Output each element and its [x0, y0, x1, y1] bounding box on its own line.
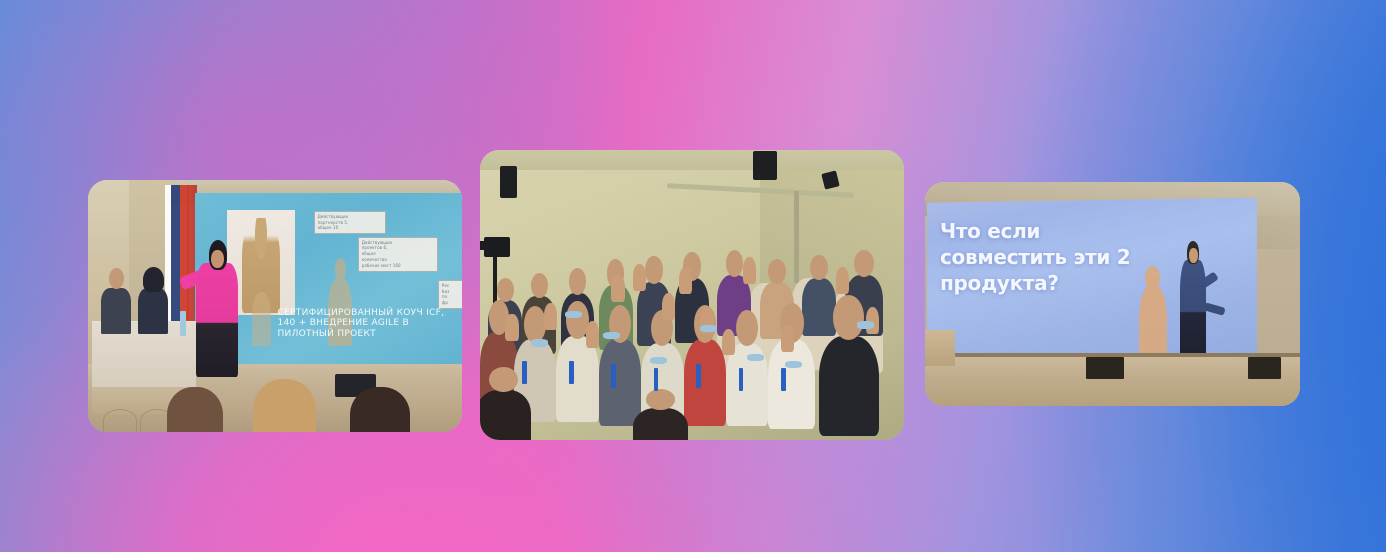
attendee — [819, 336, 878, 437]
lanyard — [522, 361, 527, 384]
raised-hand — [544, 303, 557, 330]
slide-headline: СЕРТИФИЦИРОВАННЫЙ КОУЧ ICF, 140 + ВНЕДРЕ… — [277, 308, 456, 341]
ceiling — [480, 150, 904, 170]
attendee-foreground — [480, 390, 531, 440]
wall-speaker — [500, 166, 518, 198]
attendee — [599, 339, 641, 425]
slide-callout-projects: Действующих проектов 6, общее количество… — [358, 237, 438, 272]
stage-monitor — [1248, 357, 1282, 379]
lanyard — [696, 364, 701, 387]
wall-speaker — [753, 151, 777, 180]
water-bottle — [180, 311, 186, 336]
face-mask — [650, 357, 667, 364]
face-mask — [700, 325, 717, 332]
raised-hand — [633, 264, 646, 291]
video-camera — [484, 237, 509, 257]
raised-hand — [611, 275, 624, 302]
stage-monitor — [1086, 357, 1124, 379]
raised-hand — [722, 329, 735, 356]
face-mask — [747, 354, 764, 361]
attendee — [802, 278, 836, 336]
attendee — [684, 339, 726, 425]
face-mask — [531, 339, 548, 346]
audience-crowd — [480, 260, 904, 440]
raised-hand — [679, 267, 692, 294]
lanyard — [611, 364, 616, 387]
attendee — [768, 339, 815, 429]
photo-card-stage-speaker[interactable]: Что если совместить эти 2 продукта? Man … — [925, 182, 1300, 406]
panelist-man — [101, 288, 131, 333]
photo-image-stage-speaker: Что если совместить эти 2 продукта? — [925, 182, 1300, 406]
raised-hand — [505, 314, 518, 341]
face-mask — [857, 321, 874, 328]
photo-card-audience-raised-hands[interactable]: Auditorium full of seated attendees wear… — [480, 150, 904, 440]
raised-hand — [743, 257, 756, 284]
presenter-pink-blazer — [196, 263, 237, 376]
lanyard — [654, 368, 659, 391]
audience-head — [253, 379, 317, 432]
slide-silhouette-small — [252, 292, 271, 346]
face-mask — [603, 332, 620, 339]
lanyard — [739, 368, 744, 391]
audience-head — [167, 387, 223, 432]
lanyard — [569, 361, 574, 384]
photo-card-conference-presenter[interactable]: Действующих партнерств 5, общее 10 Дейст… — [88, 180, 462, 432]
lanyard — [781, 368, 786, 391]
raised-hand — [781, 325, 794, 352]
attendee-foreground — [633, 408, 688, 440]
face-mask — [565, 311, 582, 318]
slide-callout-partial: Рес биз по фр — [438, 280, 462, 309]
face-mask — [785, 361, 802, 368]
panelist-woman — [138, 288, 168, 333]
photo-image-audience — [480, 150, 904, 440]
photo-image-presenter: Действующих партнерств 5, общее 10 Дейст… — [88, 180, 462, 432]
attendee — [556, 336, 598, 422]
auditorium-chair — [103, 409, 137, 432]
raised-hand — [836, 267, 849, 294]
raised-hand — [662, 293, 675, 320]
raised-hand — [586, 321, 599, 348]
slide-callout-partnerships: Действующих партнерств 5, общее 10 — [314, 211, 386, 234]
podium — [925, 330, 955, 366]
audience-head — [350, 387, 410, 432]
